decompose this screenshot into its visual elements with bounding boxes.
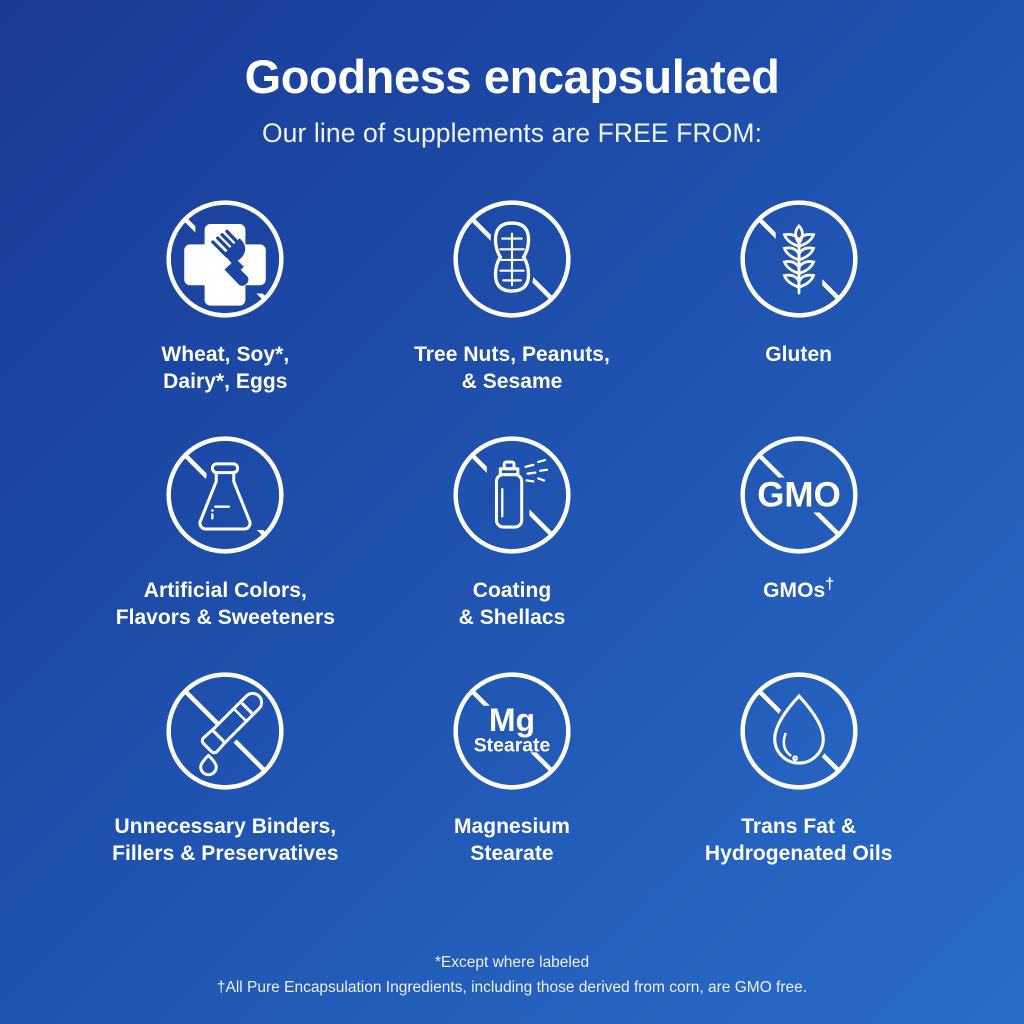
grid-item-magnesium-stearate: Mg Stearate Magnesium Stearate <box>369 663 656 899</box>
magnesium-symbol-text: Mg <box>489 702 535 738</box>
stearate-text: Stearate <box>474 734 551 756</box>
label-line-2: & Sesame <box>462 370 563 393</box>
no-flask-icon <box>157 427 293 563</box>
grid-item-gmo: GMO GMOs† <box>655 427 942 663</box>
label-line-1: Artificial Colors, <box>144 579 307 602</box>
gmo-icon-text: GMO <box>757 475 841 514</box>
no-peanut-icon <box>444 191 580 327</box>
label-line-1: Trans Fat & <box>741 815 856 838</box>
page-subtitle: Our line of supplements are FREE FROM: <box>0 118 1024 149</box>
label-line-1: GMOs <box>763 579 825 602</box>
grid-item-label: Unnecessary Binders, Fillers & Preservat… <box>112 813 338 868</box>
no-spray-can-icon <box>444 427 580 563</box>
label-line-2: Fillers & Preservatives <box>112 842 338 865</box>
grid-item-label: Magnesium Stearate <box>454 813 570 868</box>
page-title: Goodness encapsulated <box>0 52 1024 102</box>
no-wheat-stalk-icon <box>731 191 867 327</box>
grid-item-label: Wheat, Soy*, Dairy*, Eggs <box>161 341 289 396</box>
grid-item-binders: Unnecessary Binders, Fillers & Preservat… <box>82 663 369 899</box>
label-dagger: † <box>825 576 834 593</box>
label-line-2: & Shellacs <box>459 606 566 629</box>
no-magnesium-stearate-icon: Mg Stearate <box>444 663 580 799</box>
grid-item-label: GMOs† <box>763 577 834 604</box>
label-line-1: Unnecessary Binders, <box>115 815 337 838</box>
label-line-1: Coating <box>473 579 552 602</box>
no-gmo-icon: GMO <box>731 427 867 563</box>
label-line-1: Wheat, Soy*, <box>161 343 289 366</box>
header: Goodness encapsulated Our line of supple… <box>0 0 1024 149</box>
label-line-1: Tree Nuts, Peanuts, <box>414 343 610 366</box>
grid-item-allergens: Wheat, Soy*, Dairy*, Eggs <box>82 191 369 427</box>
label-line-2: Hydrogenated Oils <box>705 842 893 865</box>
grid-item-gluten: Gluten <box>655 191 942 427</box>
infographic-page: Goodness encapsulated Our line of supple… <box>0 0 1024 1024</box>
label-line-2: Dairy*, Eggs <box>163 370 287 393</box>
label-line-2: Flavors & Sweeteners <box>116 606 335 629</box>
grid-item-artificial-colors: Artificial Colors, Flavors & Sweeteners <box>82 427 369 663</box>
grid-item-nuts: Tree Nuts, Peanuts, & Sesame <box>369 191 656 427</box>
footnote-line-2: †All Pure Encapsulation Ingredients, inc… <box>0 975 1024 1000</box>
no-dropper-icon <box>157 663 293 799</box>
footnotes: *Except where labeled †All Pure Encapsul… <box>0 950 1024 1000</box>
grid-item-label: Trans Fat & Hydrogenated Oils <box>705 813 893 868</box>
grid-item-coating: Coating & Shellacs <box>369 427 656 663</box>
grid-item-label: Tree Nuts, Peanuts, & Sesame <box>414 341 610 396</box>
grid-item-trans-fat: Trans Fat & Hydrogenated Oils <box>655 663 942 899</box>
grid-item-label: Gluten <box>765 341 832 368</box>
no-oil-droplet-icon <box>731 663 867 799</box>
free-from-grid: Wheat, Soy*, Dairy*, Eggs <box>82 191 942 899</box>
label-line-1: Gluten <box>765 343 832 366</box>
grid-item-label: Artificial Colors, Flavors & Sweeteners <box>116 577 335 632</box>
no-allergen-cross-fork-icon <box>157 191 293 327</box>
label-line-1: Magnesium <box>454 815 570 838</box>
grid-item-label: Coating & Shellacs <box>459 577 566 632</box>
footnote-line-1: *Except where labeled <box>0 950 1024 975</box>
label-line-2: Stearate <box>470 842 553 865</box>
